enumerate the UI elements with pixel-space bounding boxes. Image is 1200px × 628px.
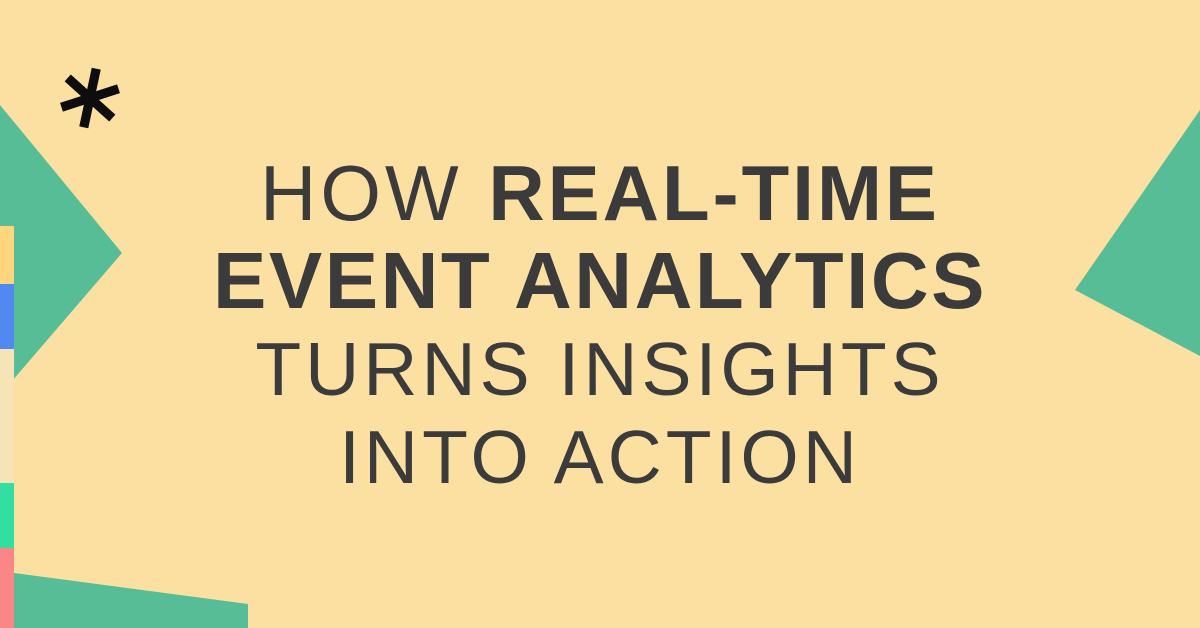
color-strip-yellow [0,226,14,284]
bottom-green-band [14,573,248,628]
right-green-triangle [1075,110,1200,356]
color-strip-mint [0,483,14,548]
color-strip-blue [0,284,14,349]
left-green-triangle [0,105,122,395]
background-shapes [0,0,1200,628]
poster-canvas: HOW REAL-TIME EVENT ANALYTICS TURNS INSI… [0,0,1200,628]
color-strip-salmon [0,548,14,628]
color-strip-beige [0,349,14,483]
asterisk-icon [58,66,122,130]
